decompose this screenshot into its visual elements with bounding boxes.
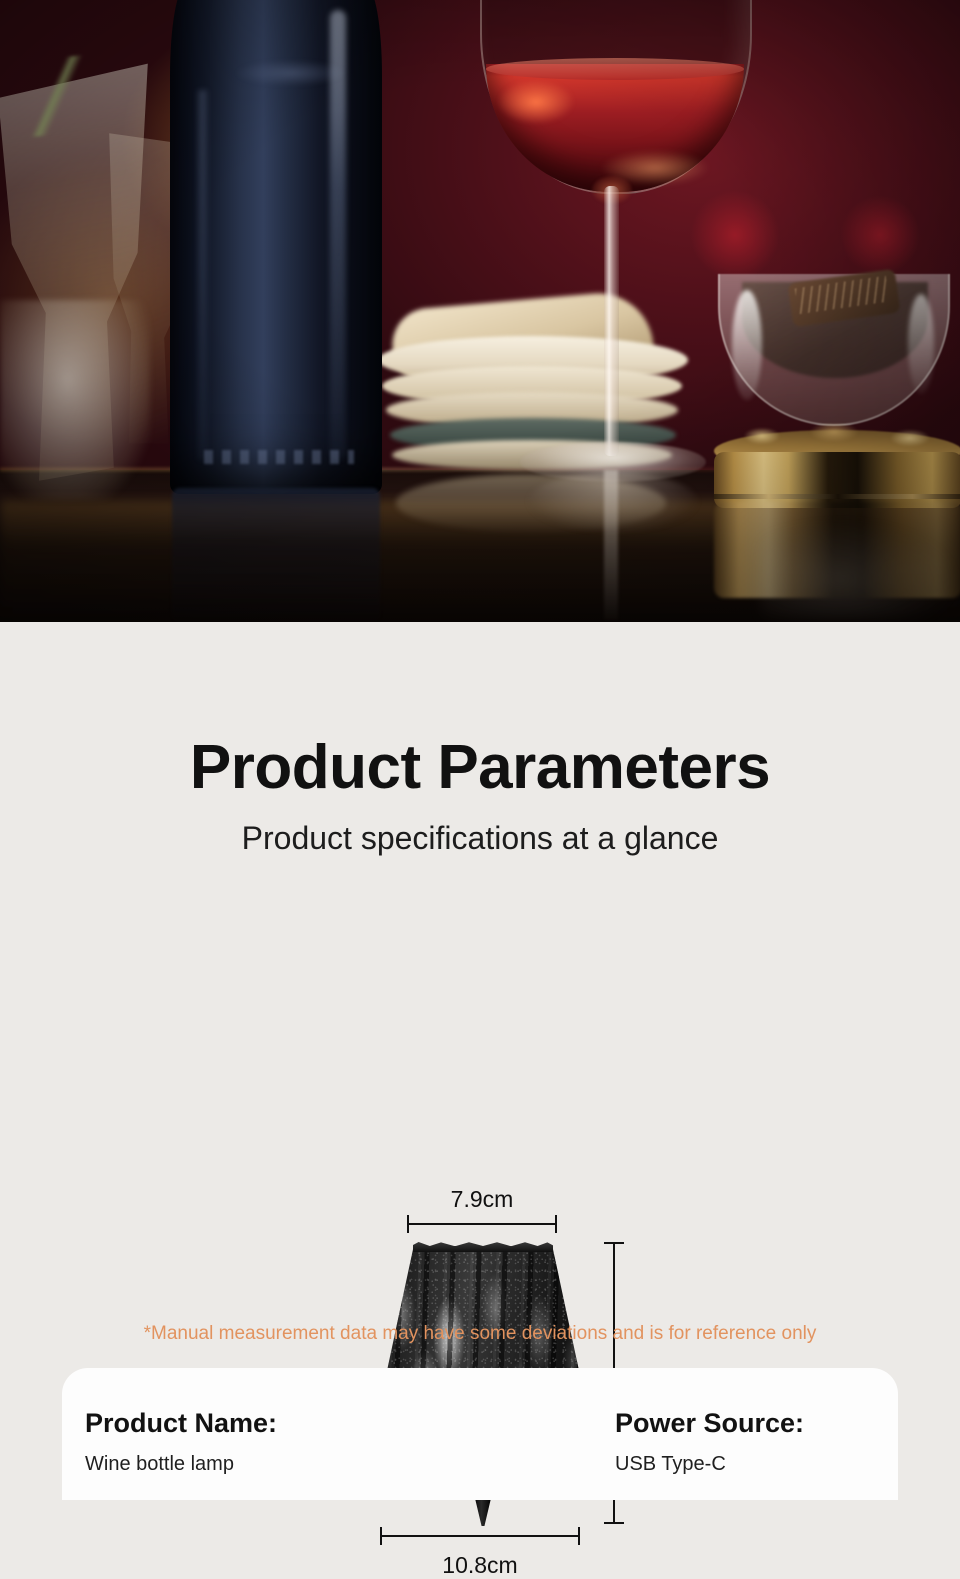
top-width-label: 7.9cm: [407, 1186, 557, 1213]
spec-label: Product Name:: [85, 1408, 277, 1439]
page-title: Product Parameters: [0, 732, 960, 803]
height-dimension-cap-bottom: [604, 1522, 624, 1524]
page-subtitle: Product specifications at a glance: [0, 820, 960, 857]
base-dimension-cap-left: [380, 1527, 382, 1545]
hero-product-photo: [0, 0, 960, 622]
spec-card: Product Name: Wine bottle lamp Power Sou…: [62, 1368, 898, 1500]
base-dimension-cap-right: [578, 1527, 580, 1545]
spec-item-product-name: Product Name: Wine bottle lamp: [85, 1408, 277, 1476]
top-dimension-cap-right: [555, 1215, 557, 1233]
top-dimension-cap-left: [407, 1215, 409, 1233]
photo-vignette: [0, 0, 960, 622]
top-dimension-line: [407, 1223, 557, 1225]
measurement-disclaimer: *Manual measurement data may have some d…: [0, 1323, 960, 1345]
spec-label: Power Source:: [615, 1408, 804, 1439]
base-width-label: 10.8cm: [380, 1552, 580, 1579]
spec-value: USB Type-C: [615, 1453, 804, 1476]
spec-value: Wine bottle lamp: [85, 1453, 277, 1476]
base-dimension-line: [380, 1535, 580, 1537]
dimension-diagram: 7.9cm 14.5cm 10.8cm: [0, 904, 960, 1324]
product-parameters-section: Product Parameters Product specification…: [0, 622, 960, 1500]
height-dimension-cap-top: [604, 1242, 624, 1244]
spec-item-power-source: Power Source: USB Type-C: [615, 1408, 804, 1476]
lamp-shade-top-rim: [413, 1242, 553, 1252]
